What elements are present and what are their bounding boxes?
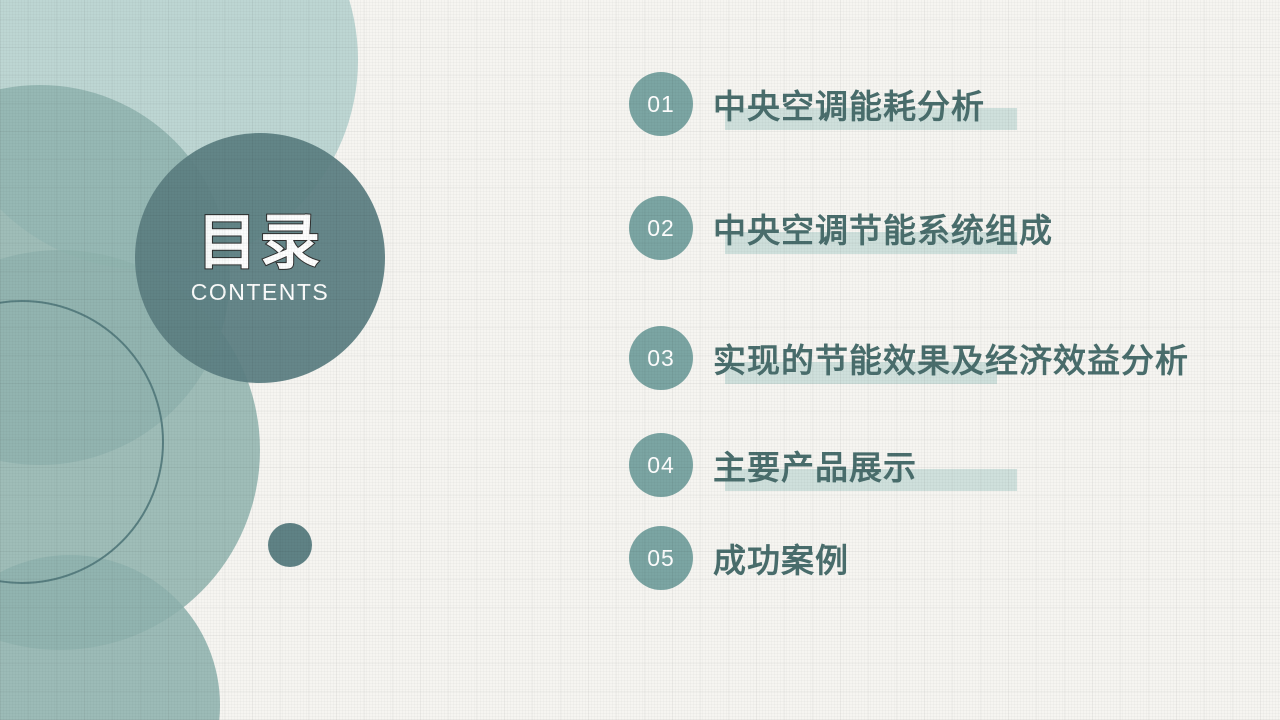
toc-item-label: 成功案例 (713, 534, 849, 582)
toc-label-wrapper: 实现的节能效果及经济效益分析 (713, 326, 1189, 390)
contents-slide: 目录 CONTENTS 01中央空调能耗分析02中央空调节能系统组成03实现的节… (0, 0, 1280, 720)
toc-number-badge: 01 (629, 72, 693, 136)
page-subtitle: CONTENTS (191, 281, 330, 304)
toc-label-wrapper: 成功案例 (713, 526, 849, 590)
toc-label-wrapper: 中央空调能耗分析 (713, 72, 985, 136)
toc-item-label: 实现的节能效果及经济效益分析 (713, 334, 1189, 382)
toc-number-badge: 05 (629, 526, 693, 590)
toc-item-label: 中央空调能耗分析 (713, 80, 985, 128)
page-title: 目录 (197, 213, 323, 273)
toc-number-badge: 04 (629, 433, 693, 497)
toc-item-04[interactable]: 04主要产品展示 (629, 433, 917, 497)
toc-item-02[interactable]: 02中央空调节能系统组成 (629, 196, 1053, 260)
toc-item-03[interactable]: 03实现的节能效果及经济效益分析 (629, 326, 1189, 390)
toc-number-badge: 02 (629, 196, 693, 260)
toc-item-05[interactable]: 05成功案例 (629, 526, 849, 590)
contents-badge: 目录 CONTENTS (135, 133, 385, 383)
toc-item-label: 主要产品展示 (713, 441, 917, 489)
toc-number-badge: 03 (629, 326, 693, 390)
toc-label-wrapper: 中央空调节能系统组成 (713, 196, 1053, 260)
toc-label-wrapper: 主要产品展示 (713, 433, 917, 497)
toc-item-label: 中央空调节能系统组成 (713, 204, 1053, 252)
small-dot-decoration (268, 523, 312, 567)
toc-item-01[interactable]: 01中央空调能耗分析 (629, 72, 985, 136)
